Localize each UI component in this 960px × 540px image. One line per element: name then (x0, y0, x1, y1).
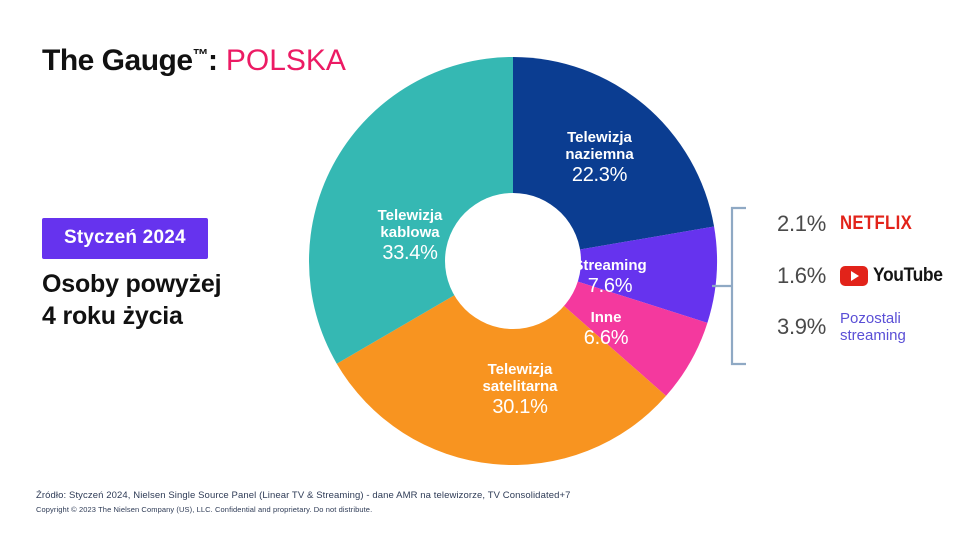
period-badge: Styczeń 2024 (42, 218, 208, 259)
trademark-symbol: ™ (193, 47, 209, 64)
audience-line-2: 4 roku życia (42, 300, 221, 332)
title-separator: : (208, 44, 218, 77)
breakout-row-other-streaming: 3.9% Pozostali streaming (754, 310, 906, 344)
other-streaming-label: Pozostali streaming (840, 310, 906, 344)
streaming-breakout: 2.1% NETFLIX 1.6% YouTube 3.9% Pozostali… (712, 196, 960, 376)
footer-copyright: Copyright © 2023 The Nielsen Company (US… (36, 503, 571, 516)
youtube-play-icon (840, 266, 868, 286)
donut-chart: Telewizja kablowa 33.4% Telewizja naziem… (300, 48, 730, 478)
audience-line-1: Osoby powyżej (42, 268, 221, 300)
breakout-value-other-streaming: 3.9% (754, 314, 826, 340)
donut-chart-svg (300, 48, 730, 478)
footer-source: Źródło: Styczeń 2024, Nielsen Single Sou… (36, 489, 571, 503)
netflix-wordmark: NETFLIX (840, 213, 912, 235)
youtube-wordmark: YouTube (873, 265, 943, 287)
title-brand: The Gauge (42, 44, 193, 77)
youtube-logo-mark: YouTube (840, 265, 949, 287)
breakout-row-youtube: 1.6% YouTube (754, 259, 949, 293)
breakout-value-netflix: 2.1% (754, 211, 826, 237)
donut-center-hole (445, 193, 581, 329)
footer: Źródło: Styczeń 2024, Nielsen Single Sou… (36, 489, 571, 516)
other-streaming-text: Pozostali streaming (840, 310, 906, 344)
netflix-logo-mark: NETFLIX (840, 213, 922, 235)
breakout-row-netflix: 2.1% NETFLIX (754, 207, 922, 241)
other-streaming-line2: streaming (840, 327, 906, 344)
other-streaming-line1: Pozostali (840, 310, 901, 327)
audience-description: Osoby powyżej 4 roku życia (42, 268, 221, 332)
breakout-bracket-icon (712, 196, 752, 376)
breakout-value-youtube: 1.6% (754, 263, 826, 289)
